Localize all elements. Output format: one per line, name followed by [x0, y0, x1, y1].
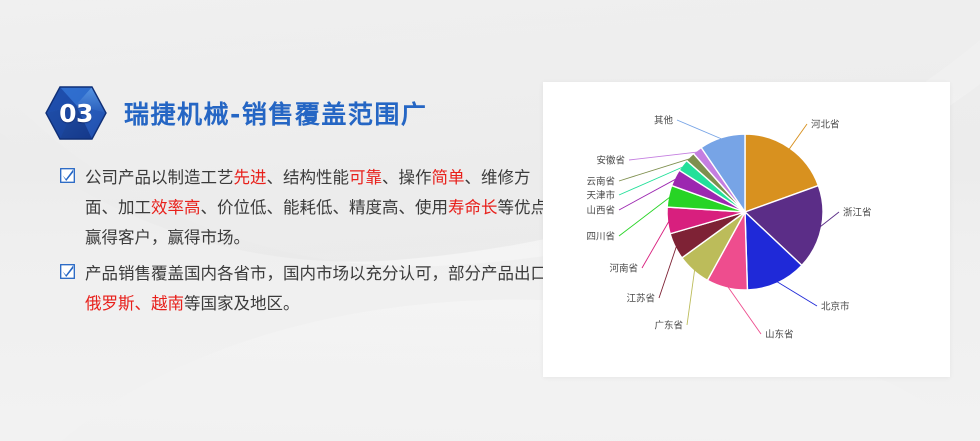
pie-slice-label: 北京市 — [821, 301, 850, 313]
pie-slice-label: 四川省 — [586, 231, 615, 243]
pie-slices — [667, 134, 823, 290]
highlighted-phrase: 寿命长 — [448, 198, 498, 217]
pie-slice-label: 天津市 — [586, 190, 615, 202]
pie-leader-line — [659, 245, 677, 298]
pie-slice-label: 河南省 — [609, 263, 638, 275]
highlighted-phrase: 可靠 — [349, 168, 382, 187]
pie-leader-line — [776, 281, 817, 306]
chart-card: 河北省浙江省北京市山东省广东省江苏省河南省四川省山西省天津市云南省安徽省其他 — [543, 82, 950, 377]
plain-phrase: 、操作 — [382, 168, 432, 187]
section-heading: 03 瑞捷机械-销售覆盖范围广 — [44, 86, 427, 140]
hexagon-badge-icon: 03 — [44, 85, 108, 141]
pie-slice-label: 浙江省 — [843, 207, 872, 219]
highlighted-phrase: 简单 — [432, 168, 465, 187]
checkbox-check-icon — [60, 168, 75, 183]
plain-phrase: 产品销售覆盖国内各省市，国内市场以充分认可，部分产品出口 — [85, 264, 547, 283]
pie-leader-line — [642, 220, 669, 268]
highlighted-phrase: 俄罗斯、越南 — [85, 294, 184, 313]
pie-slice-label: 山东省 — [765, 329, 794, 341]
checkbox-check-icon — [60, 264, 75, 279]
plain-phrase: 等国家及地区。 — [184, 294, 300, 313]
pie-leader-line — [727, 286, 761, 334]
pie-slice-label: 其他 — [654, 115, 674, 127]
page-title: 瑞捷机械-销售覆盖范围广 — [124, 95, 427, 131]
province-sales-pie-chart: 河北省浙江省北京市山东省广东省江苏省河南省四川省山西省天津市云南省安徽省其他 — [543, 82, 950, 377]
pie-slice-label: 山西省 — [586, 205, 615, 217]
plain-phrase: 、结构性能 — [267, 168, 350, 187]
plain-phrase: 公司产品以制造工艺 — [85, 168, 234, 187]
pie-slice-label: 安徽省 — [596, 155, 625, 167]
pie-slice-label: 广东省 — [654, 320, 683, 332]
pie-leader-line — [619, 197, 671, 236]
slide-root: 03 瑞捷机械-销售覆盖范围广 公司产品以制造工艺先进、结构性能可靠、操作简单、… — [0, 0, 980, 441]
highlighted-phrase: 先进 — [234, 168, 267, 187]
highlighted-phrase: 效率高 — [151, 198, 201, 217]
pie-slice-label: 江苏省 — [626, 293, 655, 305]
bullet-text-1: 公司产品以制造工艺先进、结构性能可靠、操作简单、维修方面、加工效率高、价位低、能… — [85, 163, 560, 253]
pie-slice-label: 河北省 — [811, 119, 840, 131]
bullet-text-2: 产品销售覆盖国内各省市，国内市场以充分认可，部分产品出口俄罗斯、越南等国家及地区… — [85, 259, 560, 319]
list-item: 公司产品以制造工艺先进、结构性能可靠、操作简单、维修方面、加工效率高、价位低、能… — [60, 163, 560, 253]
plain-phrase: 、价位低、能耗低、精度高、使用 — [201, 198, 449, 217]
feature-bullet-list: 公司产品以制造工艺先进、结构性能可靠、操作简单、维修方面、加工效率高、价位低、能… — [60, 163, 560, 325]
pie-slice-label: 云南省 — [586, 176, 615, 188]
badge-number: 03 — [44, 85, 108, 142]
pie-leader-line — [677, 120, 723, 139]
list-item: 产品销售覆盖国内各省市，国内市场以充分认可，部分产品出口俄罗斯、越南等国家及地区… — [60, 259, 560, 319]
pie-leader-line — [687, 269, 695, 325]
pie-leader-line — [789, 124, 807, 150]
